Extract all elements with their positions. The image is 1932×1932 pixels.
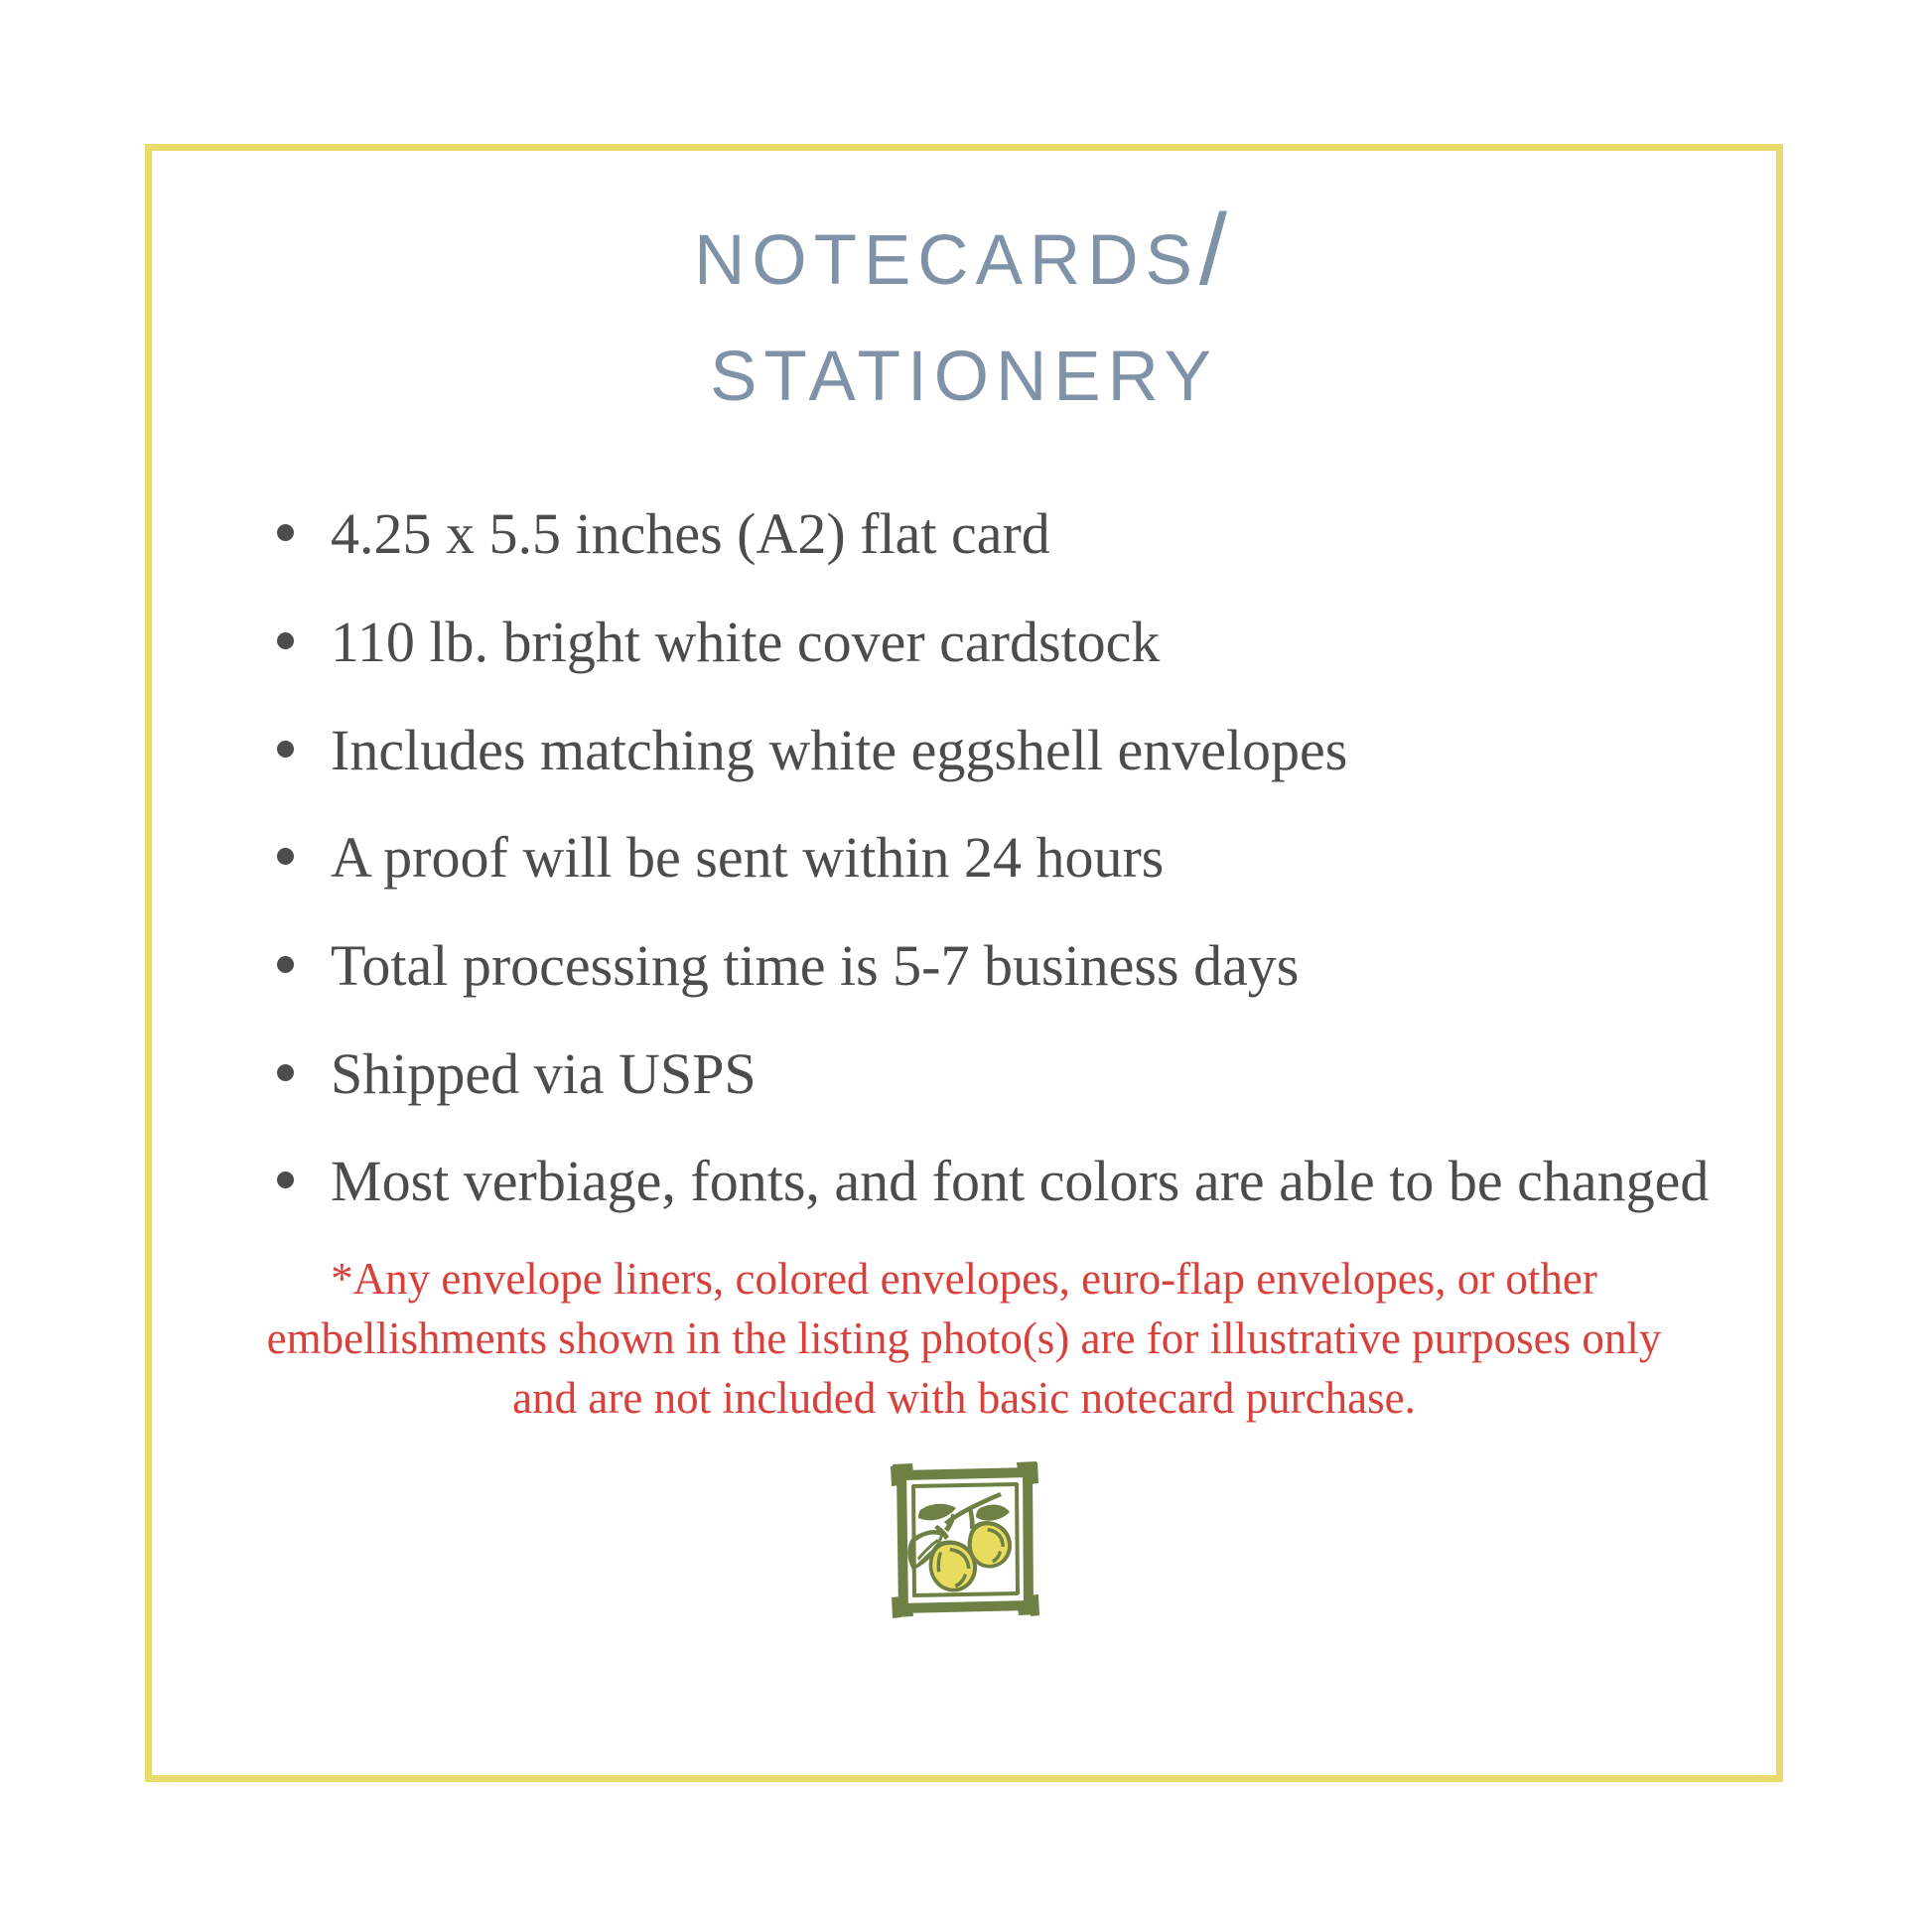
list-item-label: Most verbiage, fonts, and font colors ar… [331, 1149, 1709, 1213]
list-item-label: A proof will be sent within 24 hours [331, 825, 1164, 890]
bullet-dot-icon [277, 741, 294, 758]
listing-info-card: Notecards/ Stationery 4.25 x 5.5 inches … [145, 144, 1783, 1782]
list-item: 4.25 x 5.5 inches (A2) flat card [269, 492, 1717, 577]
title-line-1: Notecards/ [152, 193, 1776, 309]
bullet-dot-icon [277, 524, 294, 541]
brand-logo-container [152, 1458, 1776, 1629]
lemon-branch-framed-logo-icon [885, 1458, 1043, 1629]
list-item-label: 110 lb. bright white cover cardstock [331, 610, 1160, 674]
list-item-label: Shipped via USPS [331, 1041, 757, 1106]
bullet-dot-icon [277, 1064, 294, 1081]
bullet-dot-icon [277, 632, 294, 649]
list-item-label: Total processing time is 5-7 business da… [331, 933, 1299, 998]
list-item-label: Includes matching white eggshell envelop… [331, 718, 1347, 782]
list-item: Shipped via USPS [269, 1033, 1717, 1117]
list-item: Most verbiage, fonts, and font colors ar… [269, 1140, 1717, 1224]
bullet-dot-icon [277, 848, 294, 865]
page-title: Notecards/ Stationery [152, 193, 1776, 425]
title-line-2: Stationery [152, 309, 1776, 425]
list-item: A proof will be sent within 24 hours [269, 816, 1717, 900]
bullet-dot-icon [277, 1172, 294, 1188]
product-details-list: 4.25 x 5.5 inches (A2) flat card 110 lb.… [269, 492, 1717, 1224]
bullet-dot-icon [277, 956, 294, 973]
disclaimer-note: *Any envelope liners, colored envelopes,… [152, 1250, 1776, 1429]
list-item: 110 lb. bright white cover cardstock [269, 601, 1717, 685]
list-item: Includes matching white eggshell envelop… [269, 709, 1717, 793]
list-item: Total processing time is 5-7 business da… [269, 924, 1717, 1009]
list-item-label: 4.25 x 5.5 inches (A2) flat card [331, 501, 1050, 566]
